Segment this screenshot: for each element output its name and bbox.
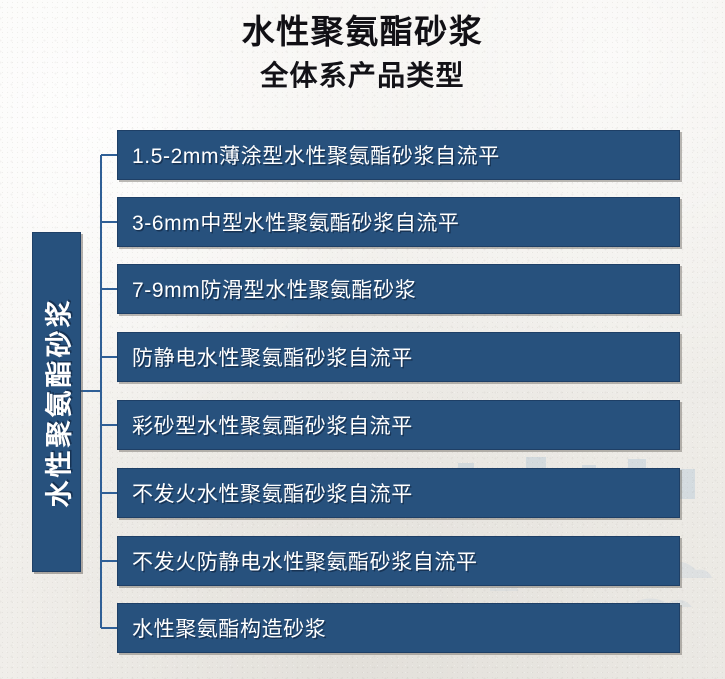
item-box-1[interactable]: 1.5-2mm薄涂型水性聚氨酯砂浆自流平 [117,130,680,180]
item-box-8[interactable]: 水性聚氨酯构造砂浆 [117,603,680,653]
item-label-3: 7-9mm防滑型水性聚氨酯砂浆 [118,274,416,304]
item-box-6[interactable]: 不发火水性聚氨酯砂浆自流平 [117,468,680,518]
page-subtitle: 全体系产品类型 [0,56,725,96]
root-node-label: 水性聚氨酯砂浆 [37,297,76,507]
item-box-2[interactable]: 3-6mm中型水性聚氨酯砂浆自流平 [117,197,680,247]
item-box-5[interactable]: 彩砂型水性聚氨酯砂浆自流平 [117,400,680,450]
item-label-5: 彩砂型水性聚氨酯砂浆自流平 [118,410,413,440]
item-box-4[interactable]: 防静电水性聚氨酯砂浆自流平 [117,332,680,382]
item-label-2: 3-6mm中型水性聚氨酯砂浆自流平 [118,207,460,237]
item-label-6: 不发火水性聚氨酯砂浆自流平 [118,478,413,508]
item-box-3[interactable]: 7-9mm防滑型水性聚氨酯砂浆 [117,264,680,314]
item-label-8: 水性聚氨酯构造砂浆 [118,613,326,643]
item-label-4: 防静电水性聚氨酯砂浆自流平 [118,342,413,372]
root-node-water-based-pu-mortar[interactable]: 水性聚氨酯砂浆 [32,232,81,572]
item-label-1: 1.5-2mm薄涂型水性聚氨酯砂浆自流平 [118,140,500,170]
diagram-canvas: 水性聚氨酯砂浆 全体系产品类型 水性聚氨酯砂浆 1.5-2mm薄涂型水性聚氨酯砂… [0,0,725,679]
page-title: 水性聚氨酯砂浆 [0,10,725,54]
item-box-7[interactable]: 不发火防静电水性聚氨酯砂浆自流平 [117,536,680,586]
item-label-7: 不发火防静电水性聚氨酯砂浆自流平 [118,546,478,576]
title-block: 水性聚氨酯砂浆 全体系产品类型 [0,10,725,96]
